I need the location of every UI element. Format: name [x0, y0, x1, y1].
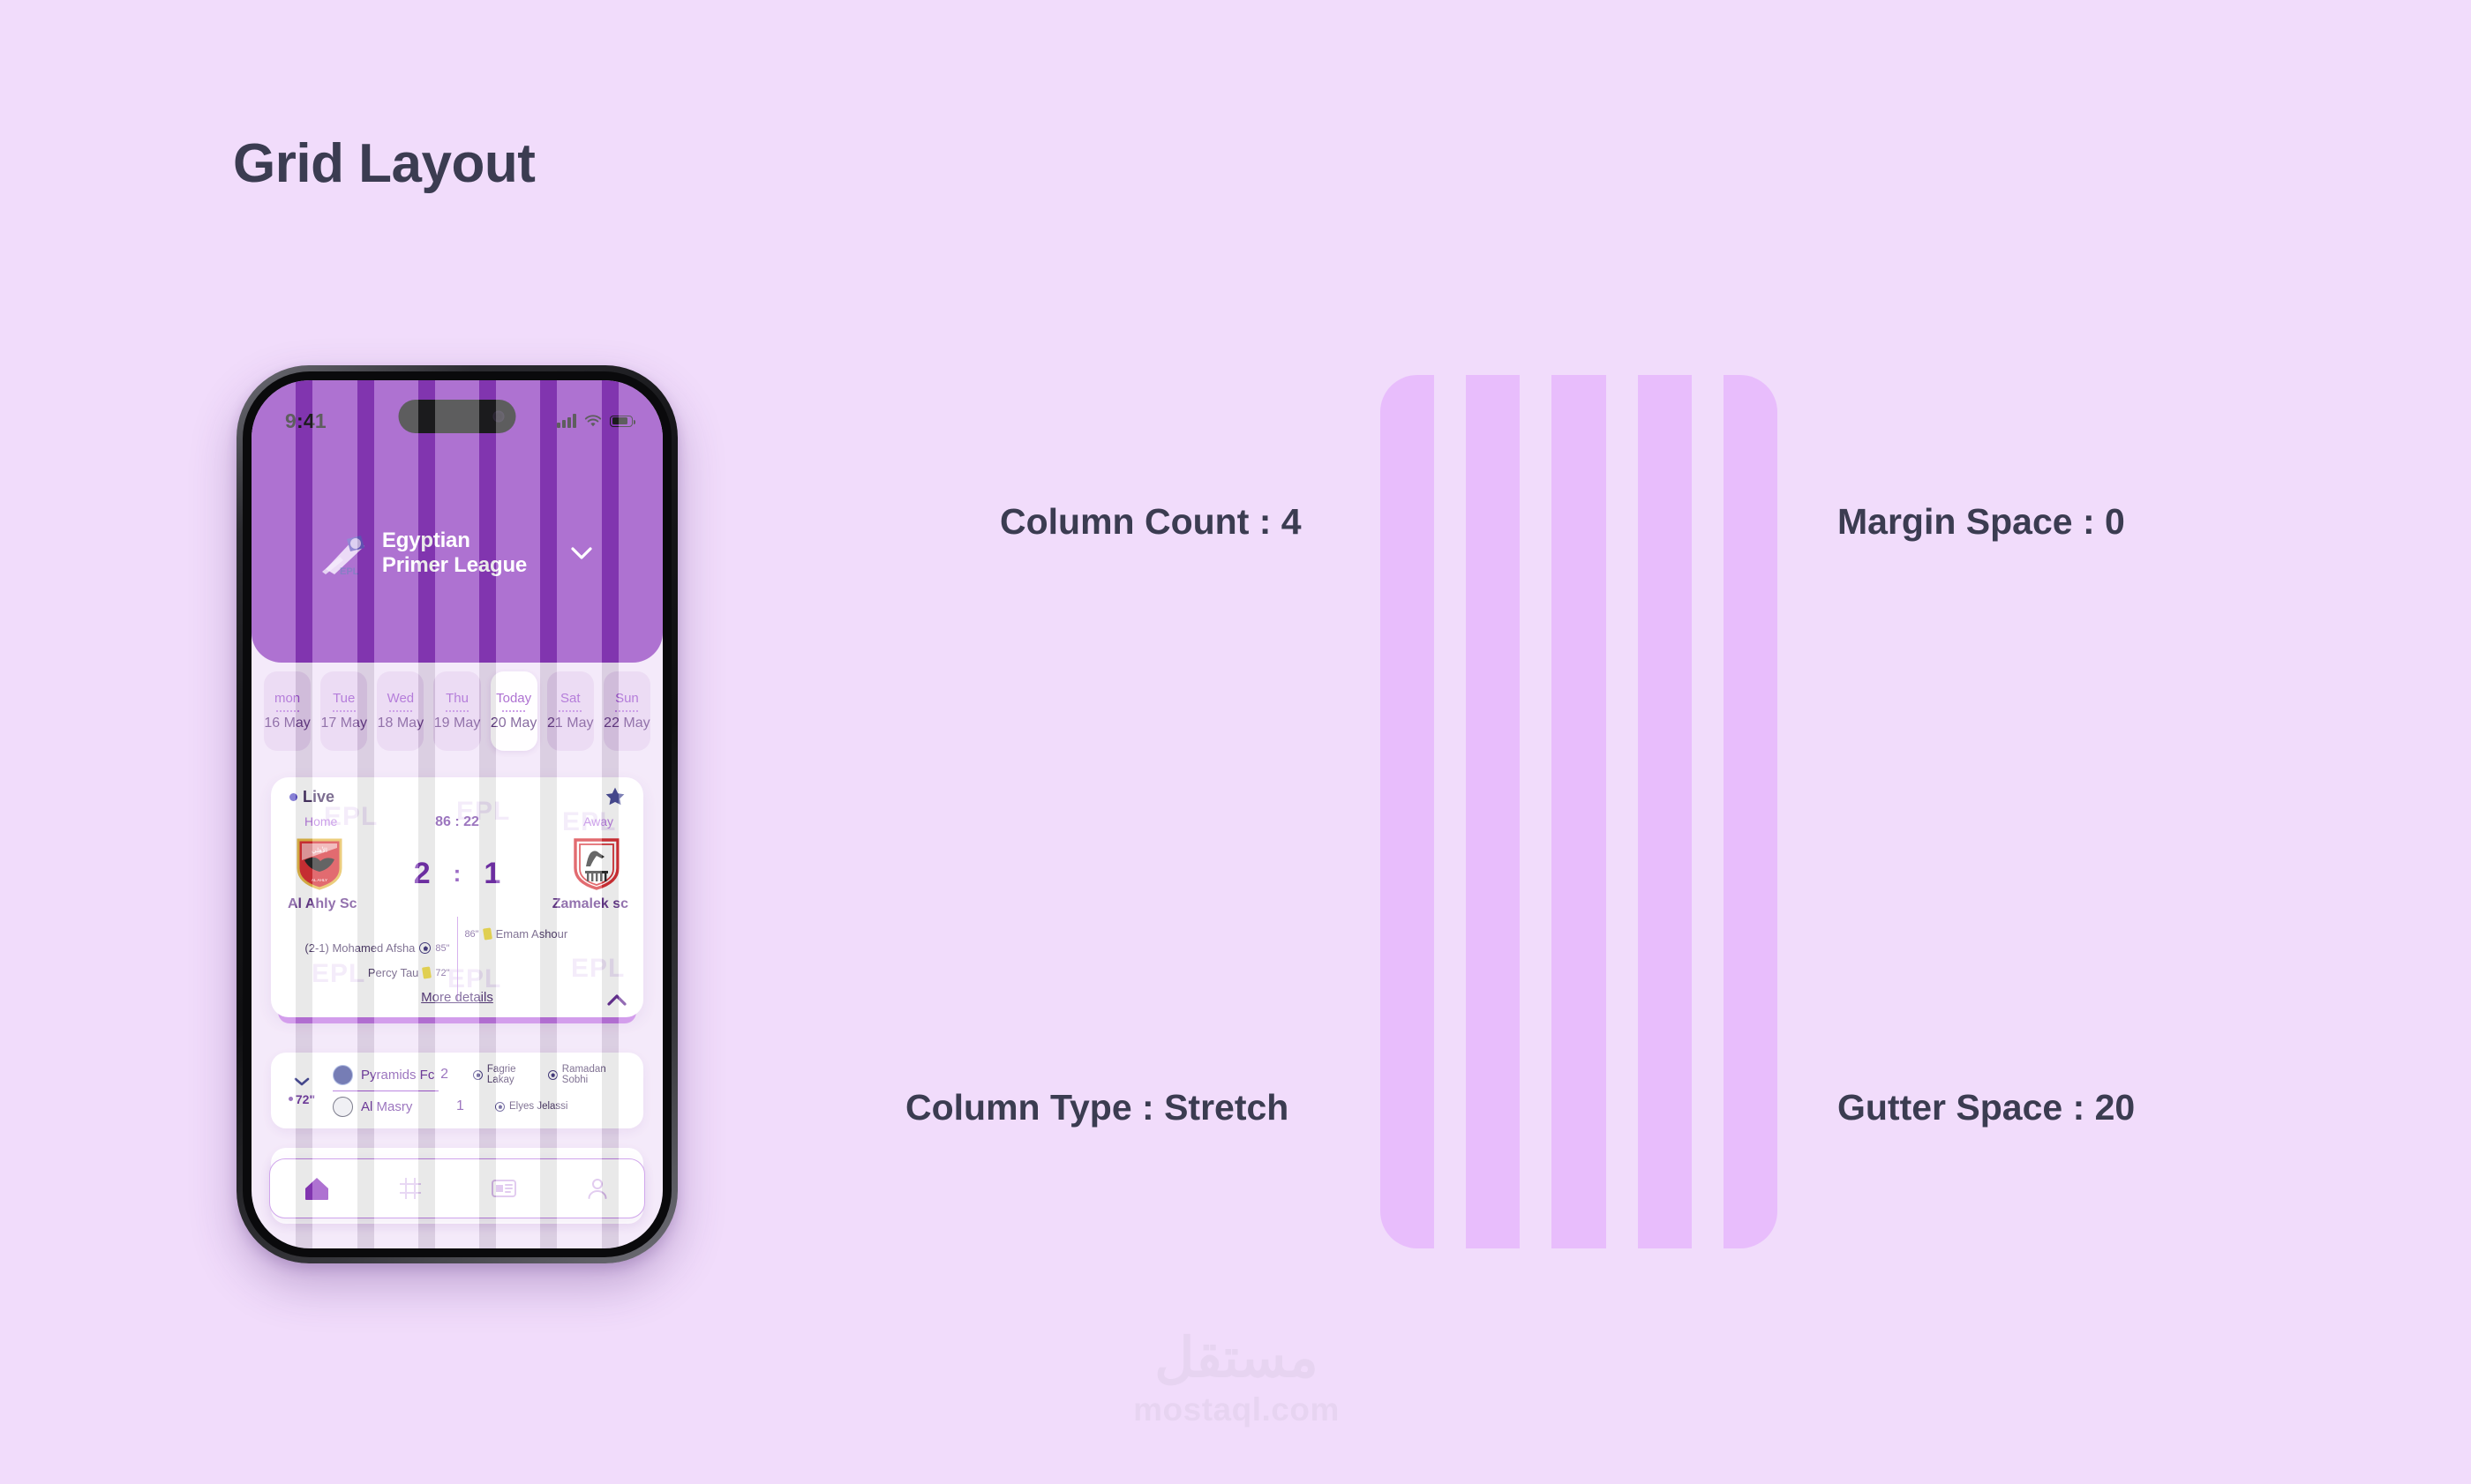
league-name: Egyptian Primer League [382, 528, 527, 579]
day-chip-dow: mon [274, 691, 300, 706]
away-score: 1 [484, 857, 500, 891]
team-name: Al Masry [361, 1099, 456, 1114]
match-event: Percy Tau 72" [368, 966, 450, 979]
grid-column [1724, 375, 1777, 1248]
day-chip-date: 20 May [491, 716, 537, 731]
spec-gutter-space: Gutter Space : 20 [1837, 1087, 2135, 1128]
football-icon [473, 1070, 483, 1080]
event-minute: 86" [464, 929, 478, 940]
signal-icon [557, 414, 576, 428]
battery-icon [610, 416, 633, 427]
grid-column [1466, 375, 1520, 1248]
day-chip[interactable]: mon16 May [264, 671, 311, 751]
day-chip-divider [615, 710, 638, 712]
day-chip-date: 17 May [320, 716, 366, 731]
live-status-badge: Live [289, 788, 334, 806]
day-chip[interactable]: Wed18 May [377, 671, 424, 751]
days-strip: mon16 MayTue17 MayWed18 MayThu19 MayToda… [252, 671, 663, 751]
spec-column-type: Column Type : Stretch [905, 1087, 1288, 1128]
day-chip-dow: Today [496, 691, 531, 706]
phone-screen: EPL Egyptian Primer League 9:41 [252, 380, 663, 1248]
team-crest-icon [333, 1065, 353, 1085]
team-score: 2 [440, 1067, 473, 1083]
match-card[interactable]: 72"Pyramids Fc2Fagrie LakayRamadan Sobhi… [271, 1053, 643, 1128]
day-chip-divider [389, 710, 412, 712]
match-rows: Pyramids Fc2Fagrie LakayRamadan SobhiAl … [333, 1061, 643, 1120]
day-chip-divider [276, 710, 299, 712]
yellow-card-icon [483, 927, 492, 940]
day-chip[interactable]: Sat21 May [547, 671, 594, 751]
day-chip-date: 18 May [378, 716, 424, 731]
day-chip-date: 22 May [604, 716, 650, 731]
dynamic-island [399, 400, 516, 433]
football-icon [548, 1070, 558, 1080]
grid-column [1551, 375, 1605, 1248]
team-name: Pyramids Fc [361, 1068, 440, 1083]
grid-gutter [1692, 375, 1724, 1248]
watermark-latin: mostaql.com [1133, 1391, 1340, 1428]
chevron-down-icon[interactable] [569, 545, 594, 561]
match-score: 2 : 1 [271, 857, 643, 891]
nav-item-profile[interactable] [578, 1171, 617, 1206]
league-name-line2: Primer League [382, 553, 527, 578]
grid-gutter [1434, 375, 1466, 1248]
grid-gutter [1520, 375, 1551, 1248]
spec-margin-space: Margin Space : 0 [1837, 501, 2125, 543]
events-divider [457, 917, 458, 1001]
chevron-down-icon[interactable] [293, 1076, 311, 1086]
day-chip[interactable]: Thu19 May [433, 671, 480, 751]
day-chip-dow: Thu [446, 691, 469, 706]
live-status-label: Live [303, 788, 334, 806]
match-row: Al Masry1Elyes Jelassi [333, 1092, 635, 1120]
grid-column-diagram [1380, 375, 1777, 1248]
day-chip[interactable]: Sun22 May [604, 671, 650, 751]
grid-column [1638, 375, 1692, 1248]
goal-scorer: Ramadan Sobhi [548, 1064, 620, 1085]
live-match-card[interactable]: EPL EPL EPL EPL EPL EPL Live Home 86 : 2… [271, 777, 643, 1017]
day-chip-divider [559, 710, 582, 712]
wifi-icon [584, 415, 602, 428]
league-selector[interactable]: EPL Egyptian Primer League [252, 528, 663, 579]
event-player: Emam Ashour [496, 927, 568, 941]
day-chip-date: 19 May [434, 716, 480, 731]
day-chip[interactable]: Today20 May [491, 671, 537, 751]
nav-item-home[interactable] [297, 1171, 336, 1206]
day-chip-divider [446, 710, 469, 712]
day-chip-date: 16 May [264, 716, 310, 731]
chevron-up-icon[interactable] [606, 993, 627, 1007]
event-minute: 72" [435, 968, 449, 978]
nav-item-news[interactable] [484, 1171, 523, 1206]
team-crest-icon [333, 1097, 353, 1117]
watermark-arabic: مستقل [1154, 1331, 1318, 1386]
match-status-text: 72" [289, 1092, 315, 1106]
front-camera-icon [493, 411, 505, 423]
row-divider [333, 1091, 439, 1091]
day-chip-dow: Wed [387, 691, 415, 706]
day-chip-dow: Sun [615, 691, 639, 706]
event-minute: 85" [435, 943, 449, 954]
event-player: Percy Tau [368, 966, 419, 979]
bottom-navigation [269, 1158, 645, 1218]
goal-scorer: Fagrie Lakay [473, 1064, 534, 1085]
league-logo-icon: EPL [320, 530, 370, 576]
live-dot-icon [289, 793, 297, 801]
live-dot-icon [289, 1097, 293, 1101]
yellow-card-icon [422, 966, 432, 978]
away-team-name: Zamalek sc [552, 896, 628, 912]
favorite-star-icon[interactable] [605, 786, 626, 807]
mostaql-watermark: مستقل mostaql.com [1091, 1318, 1382, 1442]
nav-item-table[interactable] [391, 1171, 430, 1206]
football-icon [419, 942, 431, 954]
status-icons [557, 414, 633, 428]
day-chip-date: 21 May [547, 716, 593, 731]
football-icon [495, 1102, 505, 1112]
day-chip[interactable]: Tue17 May [320, 671, 367, 751]
day-chip-divider [502, 710, 525, 712]
home-team-name: Al Ahly Sc [288, 896, 357, 912]
event-player: (2-1) Mohamed Afsha [304, 941, 415, 955]
day-chip-dow: Tue [333, 691, 355, 706]
match-status: 72" [271, 1076, 333, 1106]
away-label: Away [583, 814, 613, 828]
day-chip-dow: Sat [560, 691, 581, 706]
grid-gutter [1606, 375, 1638, 1248]
goal-scorer: Elyes Jelassi [495, 1101, 567, 1112]
day-chip-divider [333, 710, 356, 712]
more-details-link[interactable]: More details [271, 990, 643, 1005]
phone-mockup: EPL Egyptian Primer League 9:41 [237, 365, 678, 1263]
match-event: (2-1) Mohamed Afsha 85" [304, 941, 449, 955]
match-event: 86" Emam Ashour [464, 927, 567, 941]
team-score: 1 [456, 1098, 495, 1114]
league-name-line1: Egyptian [382, 528, 527, 553]
score-separator: : [454, 860, 462, 888]
grid-column [1380, 375, 1434, 1248]
status-time: 9:41 [285, 409, 327, 433]
page-title: Grid Layout [233, 132, 535, 195]
home-score: 2 [414, 857, 431, 891]
match-row: Pyramids Fc2Fagrie LakayRamadan Sobhi [333, 1061, 635, 1089]
spec-column-count: Column Count : 4 [1000, 501, 1302, 543]
svg-text:EPL: EPL [340, 566, 359, 576]
